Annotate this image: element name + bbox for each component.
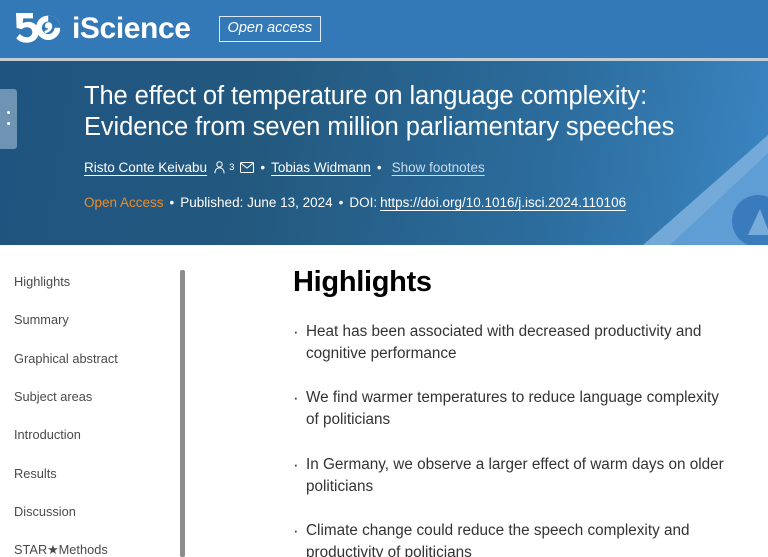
article-page: iScience Open access The effect of tempe… [0,0,768,557]
highlight-item: Climate change could reduce the speech c… [293,520,725,557]
highlight-item: In Germany, we observe a larger effect o… [293,454,725,498]
envelope-icon[interactable] [240,162,254,173]
sidebar-item-summary[interactable]: Summary [14,312,186,327]
vertical-scrollbar[interactable] [180,270,185,557]
section-heading-highlights: Highlights [293,267,748,299]
sidebar-item-introduction[interactable]: Introduction [14,427,186,442]
page-title: The effect of temperature on language co… [84,81,728,143]
doi-label: DOI: [349,195,377,210]
show-footnotes-link[interactable]: Show footnotes [392,159,485,177]
author-separator: • [377,159,382,177]
pub-separator: • [170,195,175,210]
article-title-banner: The effect of temperature on language co… [0,61,768,245]
published-date: Published: June 13, 2024 [180,195,332,210]
sidebar-item-highlights[interactable]: Highlights [14,274,186,289]
sidebar-item-star-methods[interactable]: STAR★Methods [14,542,186,557]
sidebar-item-graphical-abstract[interactable]: Graphical abstract [14,351,186,366]
author-link-1[interactable]: Risto Conte Keivabu [84,159,207,177]
highlights-list: Heat has been associated with decreased … [293,321,748,557]
main-content: Highlights Heat has been associated with… [186,245,768,557]
highlight-item: Heat has been associated with decreased … [293,321,725,365]
section-navigation-sidebar: Highlights Summary Graphical abstract Su… [0,245,186,557]
banner-content: The effect of temperature on language co… [0,61,768,210]
pub-separator: • [339,195,344,210]
highlight-item: We find warmer temperatures to reduce la… [293,387,725,431]
article-body: Highlights Summary Graphical abstract Su… [0,245,768,557]
open-access-badge: Open access [219,16,322,42]
person-icon[interactable] [214,161,225,174]
author-separator: • [260,159,265,177]
cellpress-50-logo-icon [14,10,60,49]
author-list: Risto Conte Keivabu 3 • Tobias Widmann [84,159,728,177]
sidebar-item-discussion[interactable]: Discussion [14,504,186,519]
publication-info: Open Access • Published: June 13, 2024 •… [84,195,728,210]
journal-title: iScience [72,14,191,44]
scrollbar-thumb[interactable] [180,270,185,557]
author-link-2[interactable]: Tobias Widmann [271,159,371,177]
doi-link[interactable]: https://doi.org/10.1016/j.isci.2024.1101… [380,195,626,210]
author-affiliation-marker[interactable]: 3 [229,162,234,174]
journal-logo-group[interactable]: iScience [14,10,191,49]
sidebar-item-results[interactable]: Results [14,466,186,481]
sidebar-item-subject-areas[interactable]: Subject areas [14,389,186,404]
journal-header-bar: iScience Open access [0,0,768,58]
open-access-label: Open Access [84,195,164,210]
